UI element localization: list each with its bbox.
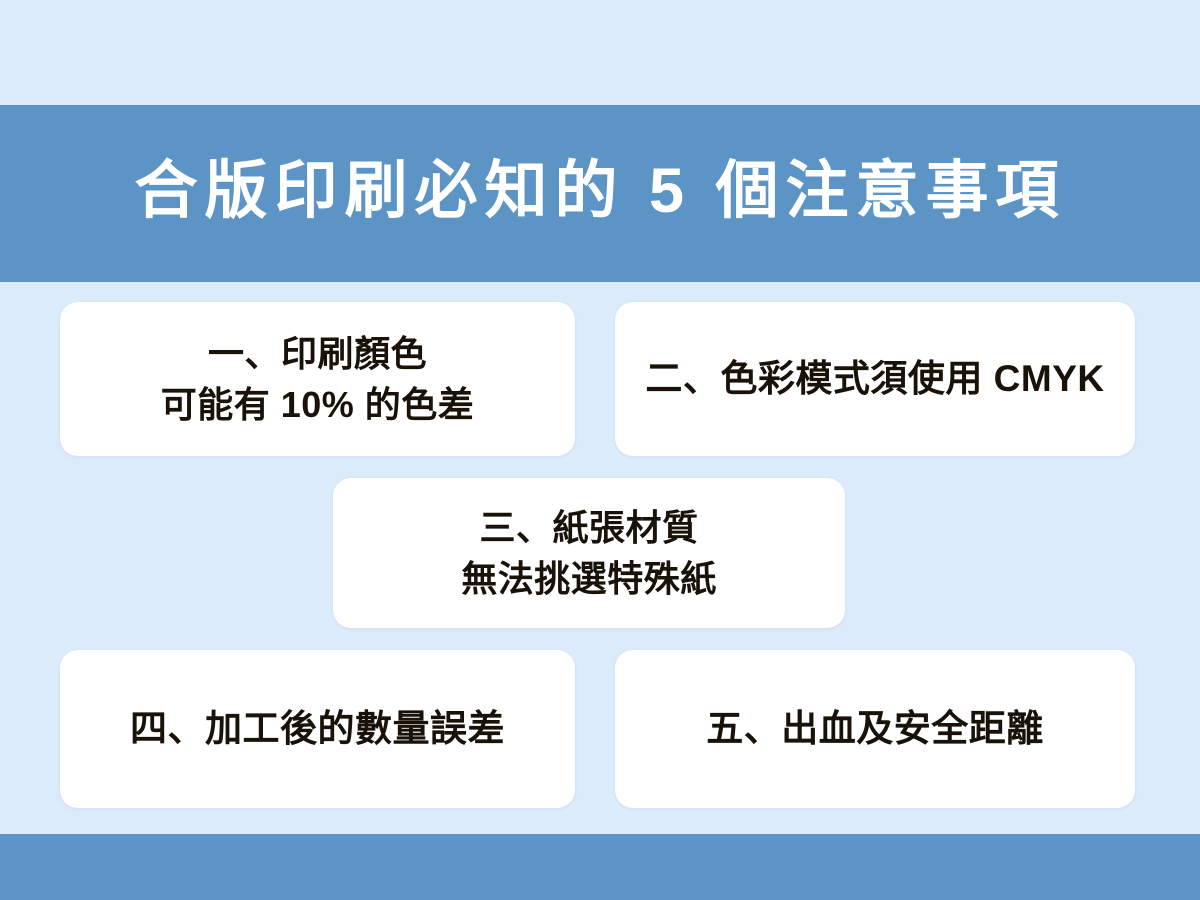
note-card-4: 四、加工後的數量誤差 (60, 650, 575, 808)
note-card-3-text: 三、紙張材質 無法挑選特殊紙 (445, 502, 733, 604)
note-card-2-text: 二、色彩模式須使用 CMYK (629, 353, 1120, 406)
note-card-1-text: 一、印刷顏色 可能有 10% 的色差 (145, 328, 491, 430)
note-card-5: 五、出血及安全距離 (615, 650, 1135, 808)
note-card-2: 二、色彩模式須使用 CMYK (615, 302, 1135, 456)
title-container: 合版印刷必知的 5 個注意事項 (0, 105, 1200, 282)
note-card-1: 一、印刷顏色 可能有 10% 的色差 (60, 302, 575, 456)
footer-band-bottom (0, 834, 1200, 900)
note-card-4-text: 四、加工後的數量誤差 (114, 703, 521, 756)
slide-canvas: 合版印刷必知的 5 個注意事項 一、印刷顏色 可能有 10% 的色差 二、色彩模… (0, 0, 1200, 900)
page-title: 合版印刷必知的 5 個注意事項 (134, 157, 1065, 226)
note-card-3: 三、紙張材質 無法挑選特殊紙 (333, 478, 845, 628)
note-card-5-text: 五、出血及安全距離 (690, 703, 1060, 756)
